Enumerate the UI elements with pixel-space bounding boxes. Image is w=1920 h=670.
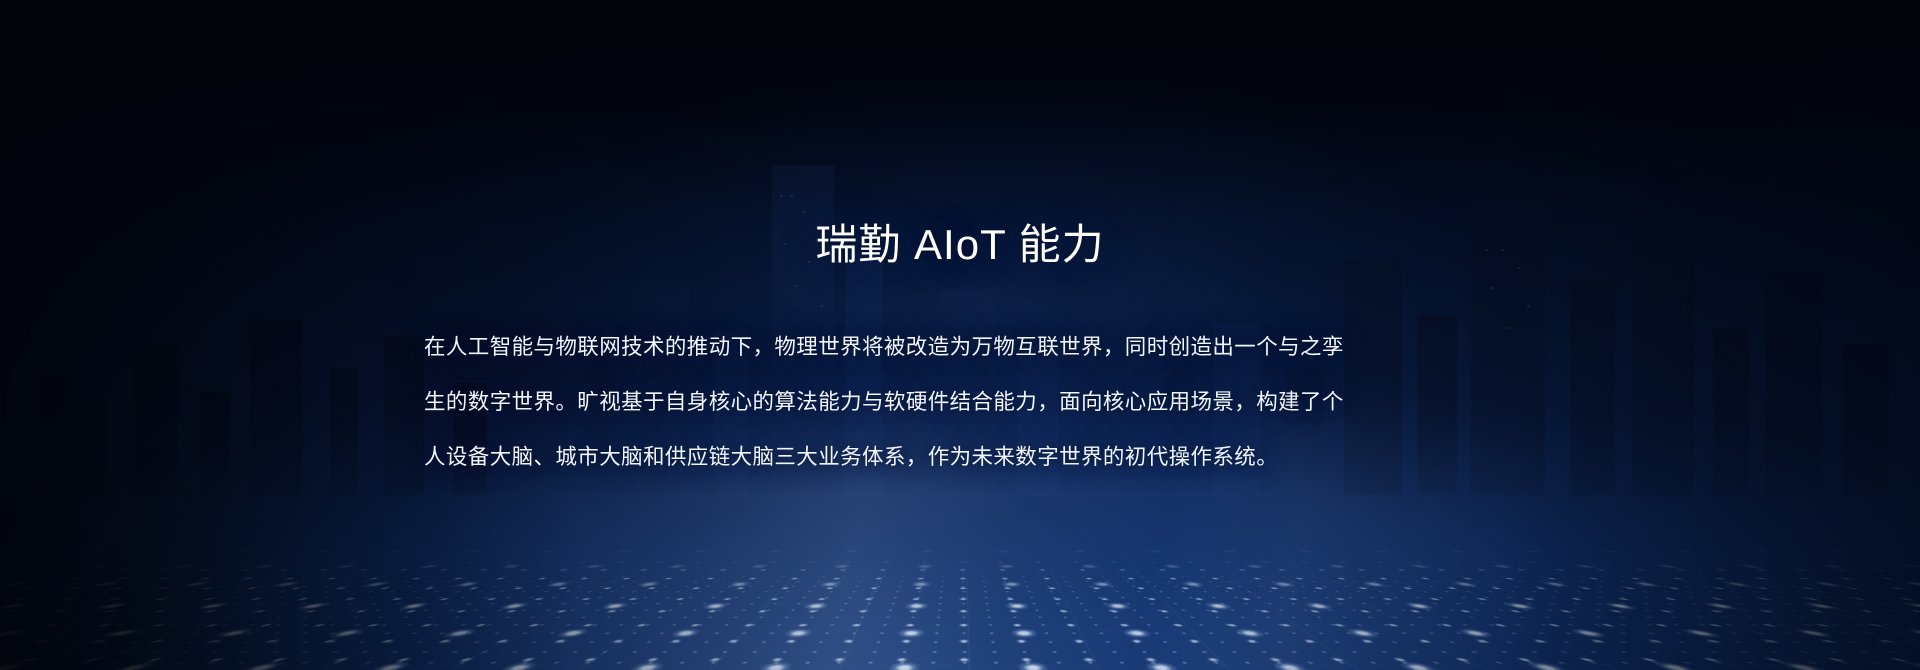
hero-description-line: 在人工智能与物联网技术的推动下，物理世界将被改造为万物互联世界，同时创造出一个与…	[424, 320, 1496, 375]
hero-description-line: 人设备大脑、城市大脑和供应链大脑三大业务体系，作为未来数字世界的初代操作系统。	[424, 430, 1496, 485]
hero-content: 瑞勤 AIoT 能力 在人工智能与物联网技术的推动下，物理世界将被改造为万物互联…	[0, 0, 1920, 670]
hero-banner: 瑞勤 AIoT 能力 在人工智能与物联网技术的推动下，物理世界将被改造为万物互联…	[0, 0, 1920, 670]
hero-description-line: 生的数字世界。旷视基于自身核心的算法能力与软硬件结合能力，面向核心应用场景，构建…	[424, 375, 1496, 430]
hero-description: 在人工智能与物联网技术的推动下，物理世界将被改造为万物互联世界，同时创造出一个与…	[424, 320, 1496, 485]
page-title: 瑞勤 AIoT 能力	[0, 224, 1920, 266]
